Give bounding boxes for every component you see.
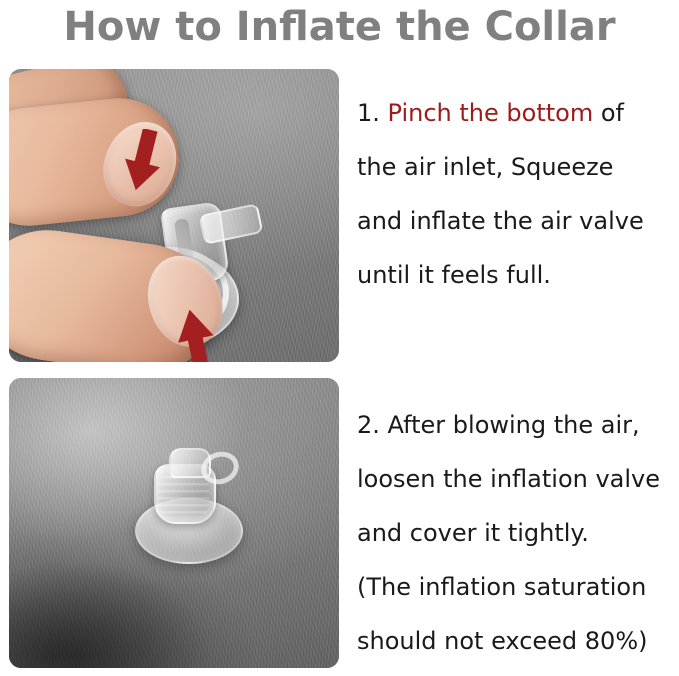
step-1-line-1: 1. Pinch the bottom of	[357, 86, 675, 140]
hand-pinching-inflation-valve-photo	[9, 69, 339, 362]
step-2-line-5: should not exceed 80%)	[357, 614, 677, 668]
step-1-line-3: and inflate the air valve	[357, 194, 675, 248]
step-1-number: 1.	[357, 99, 388, 127]
step-1-text-block: 1. Pinch the bottom of the air inlet, Sq…	[357, 86, 675, 302]
instruction-card: How to Inflate the Collar	[0, 0, 679, 676]
step-1-line-2: the air inlet, Squeeze	[357, 140, 675, 194]
arrow-down-to-valve-top	[113, 129, 173, 193]
step-1-line-1-tail: of	[593, 99, 624, 127]
page-title: How to Inflate the Collar	[0, 4, 679, 50]
step-2-line-1: 2. After blowing the air,	[357, 398, 677, 452]
step-1-line-4: until it feels full.	[357, 248, 675, 302]
step-2-text-block: 2. After blowing the air, loosen the inf…	[357, 398, 677, 668]
step-2-line-2: loosen the inflation valve	[357, 452, 677, 506]
closed-inflation-valve-photo	[9, 378, 339, 668]
arrow-up-to-valve-bottom	[165, 307, 227, 362]
step-2-line-4: (The inflation saturation	[357, 560, 677, 614]
step-2-line-3: and cover it tightly.	[357, 506, 677, 560]
step-1-highlight: Pinch the bottom	[388, 99, 594, 127]
